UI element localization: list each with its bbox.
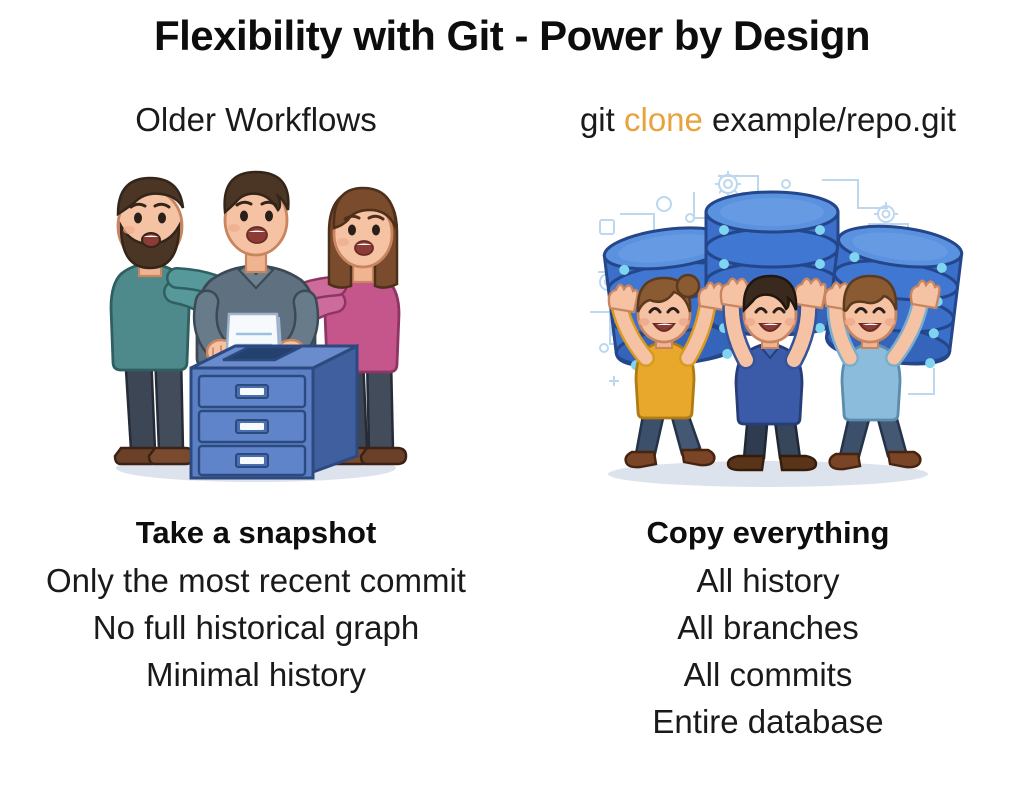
slide-root: Flexibility with Git - Power by Design O… [0,0,1024,793]
list-item: Minimal history [146,652,366,699]
kid-right-lightblue-shirt [825,276,940,469]
page-title: Flexibility with Git - Power by Design [0,12,1024,60]
left-column-heading: Take a snapshot [136,514,377,553]
right-illustration-wrapper [568,162,968,492]
space-2 [703,101,712,138]
kid-middle-blue-shirt [721,276,826,470]
list-item: Only the most recent commit [46,558,466,605]
right-column-subtitle: git clone example/repo.git [580,100,956,140]
right-column: git clone example/repo.git [512,100,1024,793]
list-item: All commits [684,652,853,699]
right-column-bullets: All history All branches All commits Ent… [652,558,883,745]
left-illustration-wrapper [91,162,421,492]
space-1 [615,101,624,138]
three-people-filing-cabinet-illustration [91,162,421,492]
kid-left-yellow-shirt [609,275,728,467]
left-column: Older Workflows [0,100,512,793]
git-command-word: git [580,101,615,138]
right-column-heading: Copy everything [647,514,890,553]
git-repo-argument: example/repo.git [712,101,956,138]
list-item: All branches [677,605,859,652]
list-item: Entire database [652,699,883,746]
list-item: No full historical graph [93,605,420,652]
filing-cabinet [191,346,357,478]
three-kids-holding-databases-illustration [568,162,968,492]
left-column-bullets: Only the most recent commit No full hist… [46,558,466,699]
list-item: All history [696,558,839,605]
git-subcommand-word: clone [624,101,703,138]
two-column-layout: Older Workflows [0,100,1024,793]
left-column-subtitle: Older Workflows [135,100,376,140]
